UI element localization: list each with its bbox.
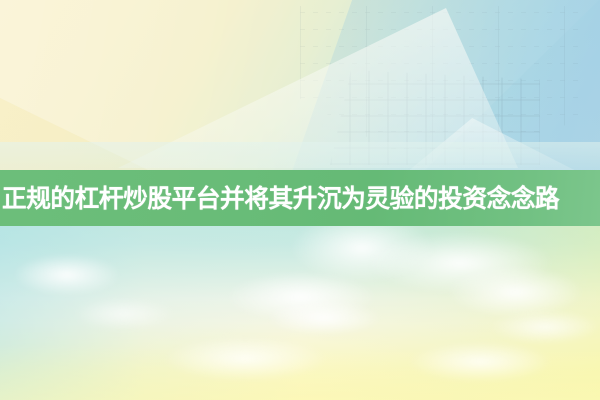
- bottom-haze: [0, 344, 600, 400]
- horizontal-plate-shape: [0, 142, 600, 172]
- banner-image: 正规的杠杆炒股平台并将其升沉为灵验的投资念念路: [0, 0, 600, 400]
- headline-bar: 正规的杠杆炒股平台并将其升沉为灵验的投资念念路: [0, 170, 600, 226]
- bottom-sky-panel: [0, 226, 600, 400]
- cloud-shape: [244, 294, 404, 342]
- cloud-shape: [54, 292, 194, 336]
- headline-text: 正规的杠杆炒股平台并将其升沉为灵验的投资念念路: [0, 186, 559, 211]
